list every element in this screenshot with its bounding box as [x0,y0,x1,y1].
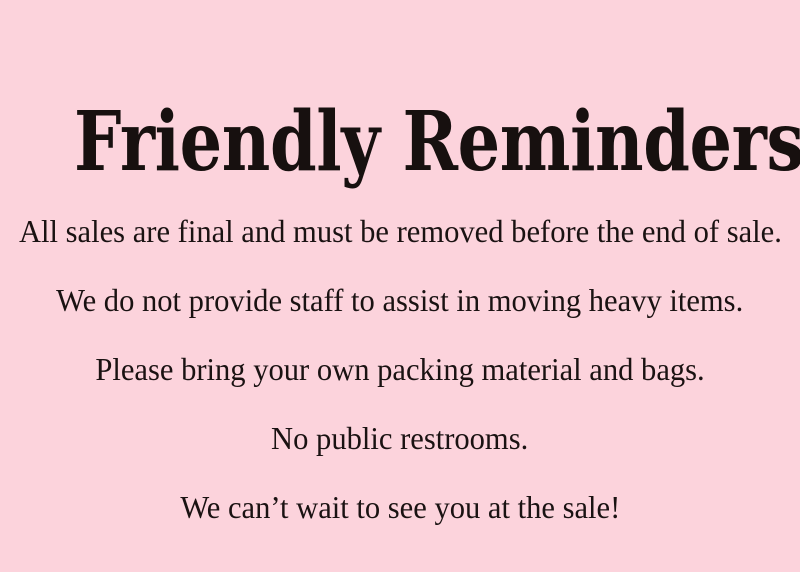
reminder-text: We do not provide staff to assist in mov… [56,284,743,316]
list-item: No public restrooms. [0,403,800,472]
reminders-poster: Friendly Reminders All sales are final a… [0,0,800,572]
page-title: Friendly Reminders [74,101,726,183]
reminder-text: All sales are final and must be removed … [19,215,782,247]
reminder-text: We can’t wait to see you at the sale! [180,491,620,523]
list-item: We can’t wait to see you at the sale! [0,472,800,541]
list-item: All sales are final and must be removed … [0,196,800,265]
reminder-list: All sales are final and must be removed … [0,196,800,541]
list-item: We do not provide staff to assist in mov… [0,265,800,334]
reminder-text: Please bring your own packing material a… [95,353,704,385]
list-item: Please bring your own packing material a… [0,334,800,403]
reminder-text: No public restrooms. [271,422,528,454]
